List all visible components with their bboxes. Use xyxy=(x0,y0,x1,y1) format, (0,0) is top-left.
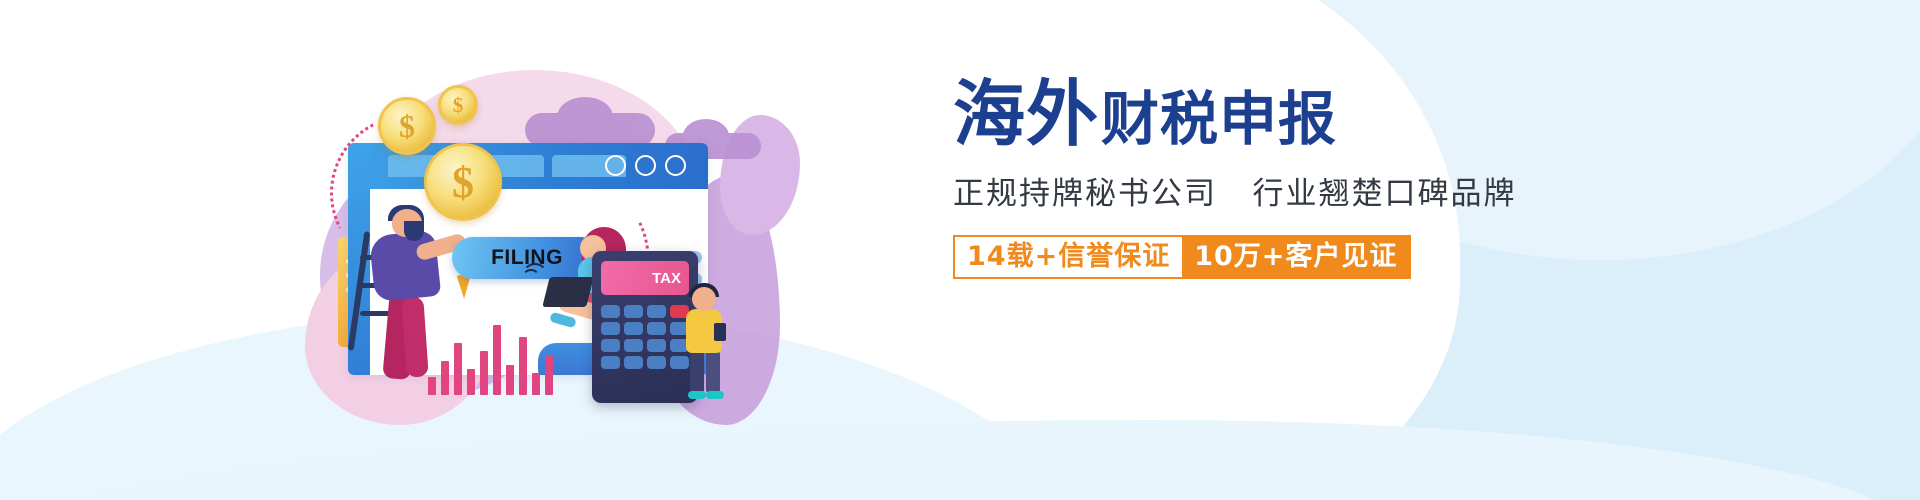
hero-illustration: $ $ $ FILING TAX xyxy=(300,55,760,395)
browser-dots xyxy=(605,155,686,176)
wifi-icon xyxy=(522,255,548,281)
coin-icon-large: $ xyxy=(424,143,502,221)
coin-icon-medium: $ xyxy=(378,97,436,155)
laptop-icon xyxy=(542,277,593,307)
headline-primary: 海外 xyxy=(953,78,1099,150)
banner-subtitle: 正规持牌秘书公司 行业翘楚口碑品牌 xyxy=(953,168,1513,213)
badge-years-guarantee: 14载+信誉保证 xyxy=(953,235,1182,279)
headline-secondary: 财税申报 xyxy=(1101,90,1337,150)
headline: 海外 财税申报 xyxy=(953,78,1513,150)
badge-group: 14载+信誉保证 10万+客户见证 xyxy=(953,235,1513,279)
coin-icon-small: $ xyxy=(438,85,478,125)
promo-banner: $ $ $ FILING TAX xyxy=(0,0,1920,500)
figure-man-with-phone xyxy=(678,283,738,401)
calculator-display: TAX xyxy=(601,261,689,295)
figure-man-on-ladder xyxy=(370,205,466,391)
banner-text-block: 海外 财税申报 正规持牌秘书公司 行业翘楚口碑品牌 14载+信誉保证 10万+客… xyxy=(953,78,1513,279)
calculator-keys xyxy=(601,305,689,369)
phone-icon xyxy=(714,323,726,341)
badge-client-count: 10万+客户见证 xyxy=(1182,235,1411,279)
cloud-icon-large xyxy=(525,113,655,147)
